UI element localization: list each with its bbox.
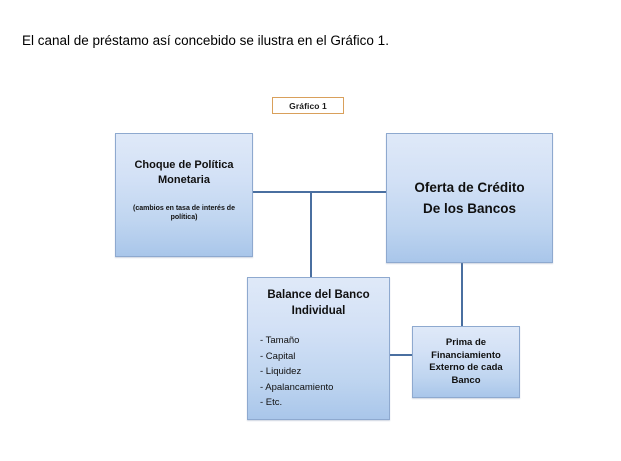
node-individual-bank-balance[interactable]: Balance del Banco Individual - Tamaño - … — [247, 277, 390, 420]
list-item: - Etc. — [260, 395, 389, 411]
list-item: - Capital — [260, 349, 389, 365]
node-shock-subtitle-line2: política) — [121, 213, 247, 222]
node-balance-title-line2: Individual — [248, 303, 389, 319]
node-balance-title-line1: Balance del Banco — [248, 287, 389, 303]
node-balance-title: Balance del Banco Individual — [248, 287, 389, 319]
connector-shock-to-supply — [252, 191, 387, 193]
diagram-canvas: Gráfico 1 Choque de Política Monetaria (… — [0, 0, 621, 461]
node-shock-subtitle: (cambios en tasa de interés de política) — [121, 204, 247, 222]
node-premium-title: Prima de Financiamiento Externo de cada … — [429, 337, 502, 387]
node-premium-title-line3: Externo de cada — [429, 362, 502, 375]
node-bank-credit-supply[interactable]: Oferta de Crédito De los Bancos — [386, 133, 553, 263]
diagram-caption-label: Gráfico 1 — [289, 101, 327, 111]
node-balance-bullet-list: - Tamaño - Capital - Liquidez - Apalanca… — [248, 333, 389, 411]
diagram-caption-chip: Gráfico 1 — [272, 97, 344, 114]
connector-junction-to-balance — [310, 191, 312, 278]
node-shock-title-line2: Monetaria — [134, 173, 233, 188]
node-supply-title: Oferta de Crédito De los Bancos — [414, 177, 524, 219]
node-shock-title-line1: Choque de Política — [134, 158, 233, 173]
node-supply-title-line2: De los Bancos — [414, 198, 524, 219]
node-shock-title: Choque de Política Monetaria — [134, 158, 233, 188]
node-external-finance-premium[interactable]: Prima de Financiamiento Externo de cada … — [412, 326, 520, 398]
list-item: - Liquidez — [260, 364, 389, 380]
node-premium-title-line1: Prima de — [429, 337, 502, 350]
node-supply-title-line1: Oferta de Crédito — [414, 177, 524, 198]
node-shock-subtitle-line1: (cambios en tasa de interés de — [121, 204, 247, 213]
connector-balance-to-premium — [389, 354, 413, 356]
node-premium-title-line4: Banco — [429, 375, 502, 388]
connector-supply-to-premium — [461, 262, 463, 327]
node-monetary-policy-shock[interactable]: Choque de Política Monetaria (cambios en… — [115, 133, 253, 257]
list-item: - Tamaño — [260, 333, 389, 349]
node-premium-title-line2: Financiamiento — [429, 350, 502, 363]
list-item: - Apalancamiento — [260, 380, 389, 396]
